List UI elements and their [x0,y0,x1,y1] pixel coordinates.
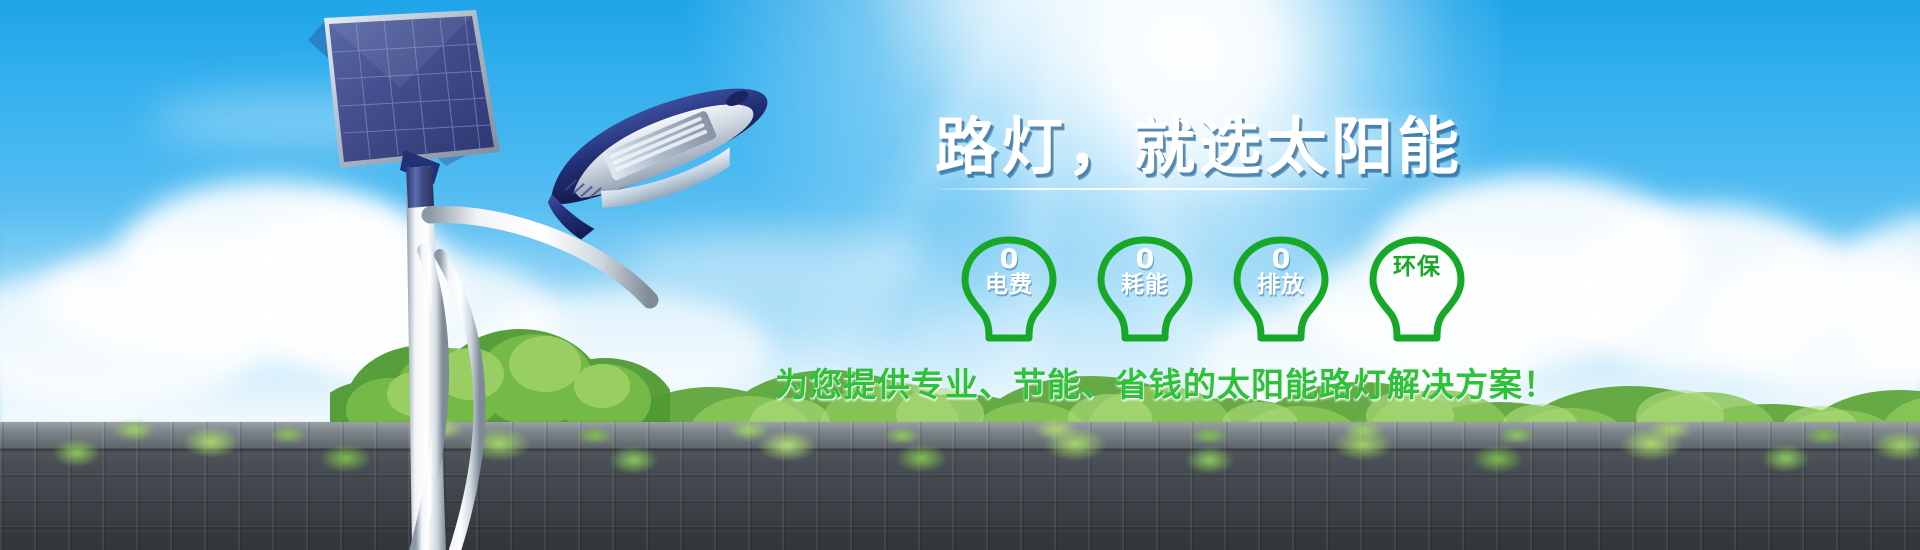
title-divider [940,188,1370,190]
badge-value: 0 [955,246,1063,274]
feature-badge-electricity-cost: 0 电费 [955,232,1063,344]
solar-street-lamp-banner: 路灯，就选太阳能 0 电费 0 耗能 [0,0,1920,550]
badge-label: 电费 [955,274,1063,298]
badge-label: 环保 [1363,256,1471,280]
led-lamp-head [530,73,790,246]
subtitle-tagline: 为您提供专业、节能、省钱的太阳能路灯解决方案！ [775,358,1557,406]
badge-label: 耗能 [1091,274,1199,298]
solar-panel [308,10,500,184]
feature-badge-emissions: 0 排放 [1227,232,1335,344]
page-title: 路灯，就选太阳能 [935,96,1463,186]
lamp-arm [430,215,650,300]
badge-value: 0 [1227,246,1335,274]
feature-badge-energy-consumption: 0 耗能 [1091,232,1199,344]
badge-value: 0 [1091,246,1199,274]
feature-badge-eco-friendly: 环保 [1363,232,1471,344]
badge-label: 排放 [1227,274,1335,298]
lightbulb-icon [1363,232,1471,344]
solar-street-lamp-product [300,0,1000,550]
feature-badge-list: 0 电费 0 耗能 0 排放 [955,232,1471,344]
